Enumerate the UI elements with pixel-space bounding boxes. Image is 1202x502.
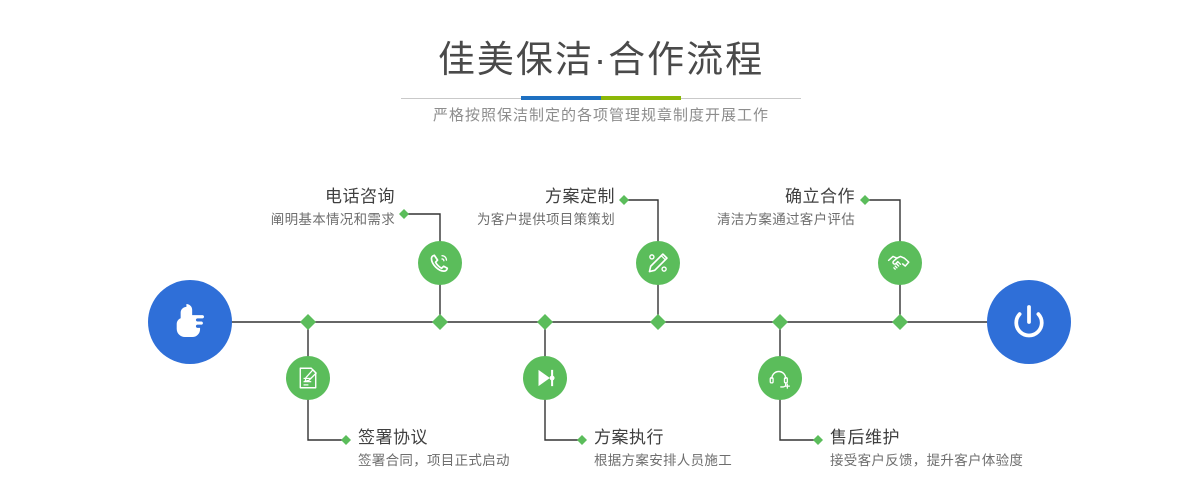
step-desc-6: 接受客户反馈，提升客户体验度 [830,451,1150,471]
step-node-execute-plan[interactable] [523,356,567,400]
document-edit-icon [295,365,321,391]
customer-service-icon [767,365,793,391]
handshake-icon [886,249,914,277]
step-title-1: 电话咨询 [180,186,395,208]
axis-diamond-3 [537,314,553,330]
axis-diamond-5 [772,314,788,330]
step-title-6: 售后维护 [830,427,1150,449]
step-label-3: 方案定制 为客户提供项目策策划 [400,186,615,230]
pointing-hand-icon [167,299,213,345]
step-desc-5: 清洁方案通过客户评估 [640,210,855,230]
play-execute-icon [532,365,558,391]
step-title-5: 确立合作 [640,186,855,208]
flow-start-node[interactable] [148,280,232,364]
step-node-plan-design[interactable] [636,241,680,285]
label-diamonds [341,195,870,445]
step-desc-3: 为客户提供项目策策划 [400,210,615,230]
label-diamond-5 [860,195,870,205]
axis-diamond-6 [892,314,908,330]
step-label-1: 电话咨询 阐明基本情况和需求 [180,186,395,230]
step-title-3: 方案定制 [400,186,615,208]
process-flow-diagram: 电话咨询 阐明基本情况和需求 方案定制 为客户提供项目策策划 确立 [0,0,1202,502]
step-desc-1: 阐明基本情况和需求 [180,210,395,230]
step-node-sign-agreement[interactable] [286,356,330,400]
label-diamond-2 [341,435,351,445]
axis-diamond-4 [650,314,666,330]
flowchart-page: 佳美保洁·合作流程 严格按照保洁制定的各项管理规章制度开展工作 [0,0,1202,502]
step-node-phone-call[interactable] [418,241,462,285]
axis-diamond-2 [432,314,448,330]
step-node-cooperation[interactable] [878,241,922,285]
phone-call-icon [427,250,453,276]
label-diamond-3 [619,195,629,205]
pencil-design-icon [645,250,671,276]
power-icon [1005,298,1053,346]
step-label-6: 售后维护 接受客户反馈，提升客户体验度 [830,427,1150,471]
step-label-5: 确立合作 清洁方案通过客户评估 [640,186,855,230]
axis-diamond-1 [300,314,316,330]
step-node-after-sales[interactable] [758,356,802,400]
flow-end-node[interactable] [987,280,1071,364]
